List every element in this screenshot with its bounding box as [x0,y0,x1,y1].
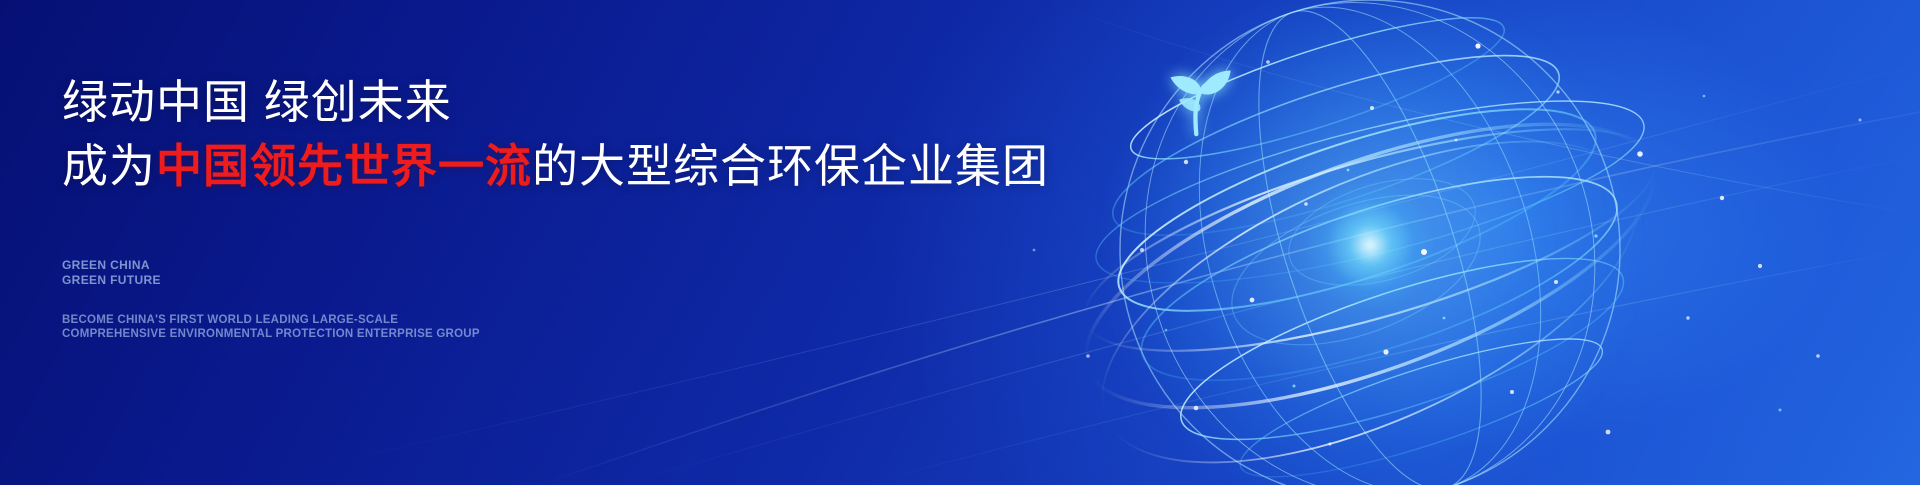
hero-banner: 绿动中国 绿创未来 成为中国领先世界一流的大型综合环保企业集团 GREEN CH… [0,0,1920,485]
headline-line-2: 成为中国领先世界一流的大型综合环保企业集团 [62,136,1062,196]
sprout-leaf-icon [1155,55,1241,141]
english-description: BECOME CHINA'S FIRST WORLD LEADING LARGE… [62,313,480,341]
english-motto: GREEN CHINA GREEN FUTURE [62,258,161,288]
headline-block: 绿动中国 绿创未来 成为中国领先世界一流的大型综合环保企业集团 [62,72,1062,196]
globe-graphic [1060,0,1680,485]
globe-wireframe [1060,0,1680,485]
globe-glow [1100,0,1640,485]
english-motto-line-2: GREEN FUTURE [62,273,161,288]
globe-core-flare [1305,180,1435,310]
english-description-line-2: COMPREHENSIVE ENVIRONMENTAL PROTECTION E… [62,327,480,341]
headline-line2-prefix: 成为 [62,140,156,192]
headline-line2-suffix: 的大型综合环保企业集团 [532,140,1049,192]
headline-line2-highlight: 中国领先世界一流 [156,140,532,192]
english-description-line-1: BECOME CHINA'S FIRST WORLD LEADING LARGE… [62,313,480,327]
english-motto-line-1: GREEN CHINA [62,258,161,273]
headline-line-1: 绿动中国 绿创未来 [62,72,1062,132]
